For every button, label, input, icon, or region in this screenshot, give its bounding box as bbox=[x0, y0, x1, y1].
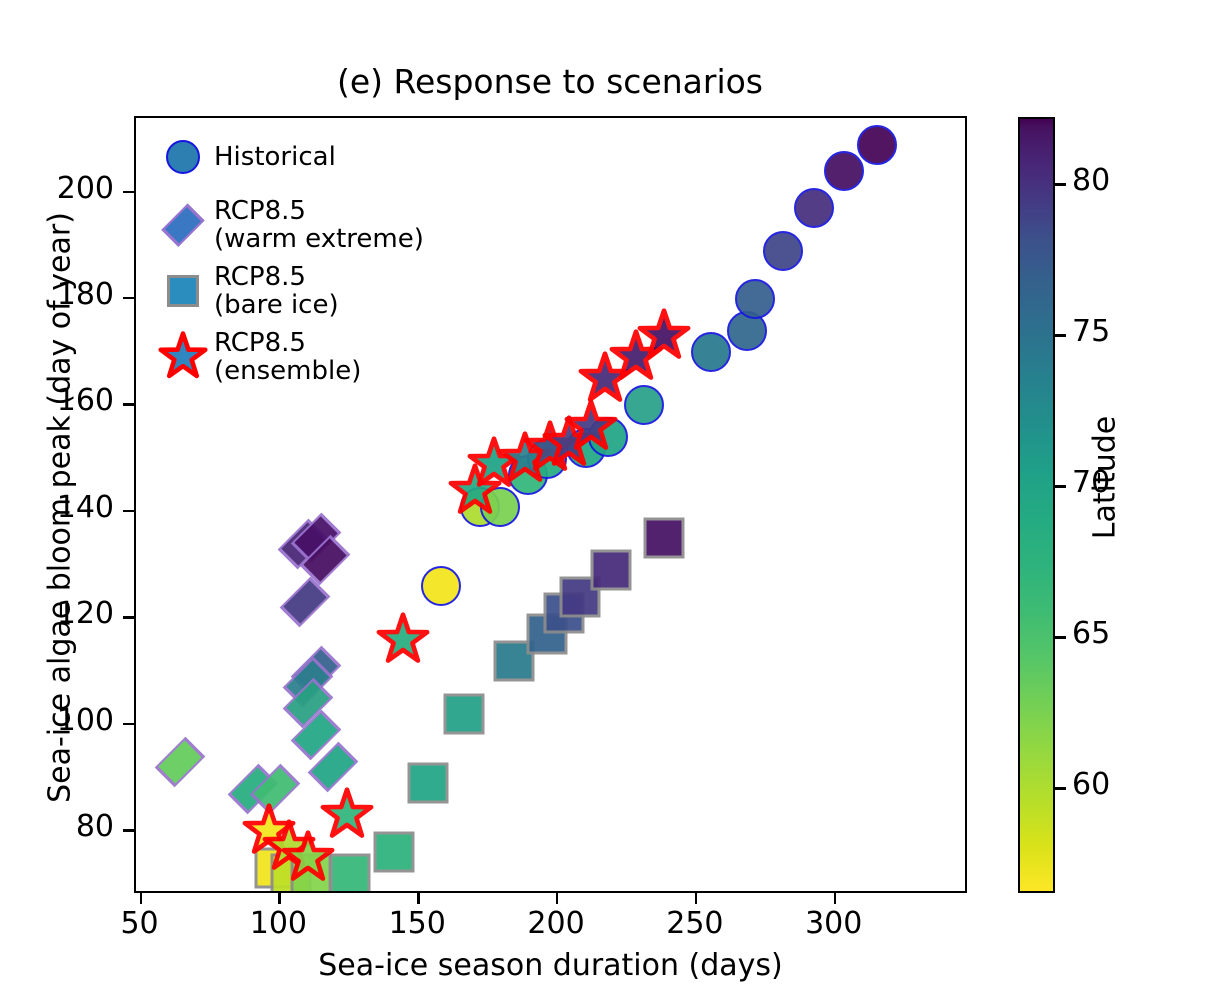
data-point-circle bbox=[857, 125, 897, 165]
x-tick bbox=[695, 893, 697, 904]
y-tick bbox=[123, 510, 134, 512]
colorbar-tick-label: 80 bbox=[1072, 163, 1110, 198]
colorbar-tick bbox=[1055, 485, 1066, 487]
x-tick bbox=[834, 893, 836, 904]
figure-root: (e) Response to scenarios 50100150200250… bbox=[0, 0, 1215, 996]
x-axis-label: Sea-ice season duration (days) bbox=[134, 948, 967, 983]
legend: HistoricalRCP8.5 (warm extreme)RCP8.5 (b… bbox=[152, 126, 482, 392]
data-point-star bbox=[155, 329, 211, 385]
colorbar-tick bbox=[1055, 636, 1066, 638]
x-tick-label: 200 bbox=[496, 906, 616, 941]
data-point-square bbox=[167, 275, 199, 307]
legend-label: Historical bbox=[214, 143, 336, 171]
legend-item-1[interactable]: RCP8.5 (warm extreme) bbox=[152, 194, 482, 256]
x-tick bbox=[140, 893, 142, 904]
colorbar-tick bbox=[1055, 787, 1066, 789]
legend-marker-circle bbox=[152, 126, 214, 188]
y-tick bbox=[123, 297, 134, 299]
data-point-circle bbox=[824, 151, 864, 191]
x-tick bbox=[278, 893, 280, 904]
x-tick-label: 50 bbox=[80, 906, 200, 941]
legend-marker-diamond bbox=[152, 194, 214, 256]
legend-item-0[interactable]: Historical bbox=[152, 126, 482, 188]
legend-label: RCP8.5 (bare ice) bbox=[214, 263, 339, 319]
data-point-star bbox=[373, 610, 433, 670]
data-point-square bbox=[407, 763, 448, 804]
data-point-diamond bbox=[155, 737, 205, 787]
y-tick bbox=[123, 616, 134, 618]
data-point-square bbox=[590, 550, 631, 591]
data-point-circle bbox=[691, 332, 731, 372]
colorbar-title: Latitude bbox=[1088, 328, 1123, 628]
legend-label: RCP8.5 (warm extreme) bbox=[214, 197, 424, 253]
x-tick-label: 150 bbox=[357, 906, 477, 941]
y-axis-label: Sea-ice algae bloom peak (day of year) bbox=[43, 118, 78, 898]
colorbar-tick bbox=[1055, 334, 1066, 336]
data-point-circle bbox=[166, 140, 200, 174]
legend-label: RCP8.5 (ensemble) bbox=[214, 329, 361, 385]
legend-item-3[interactable]: RCP8.5 (ensemble) bbox=[152, 326, 482, 388]
data-point-star bbox=[634, 306, 694, 366]
data-point-square bbox=[374, 832, 415, 873]
legend-marker-square bbox=[152, 260, 214, 322]
y-tick bbox=[123, 191, 134, 193]
data-point-circle bbox=[735, 279, 775, 319]
data-point-star bbox=[317, 785, 377, 845]
x-tick-label: 250 bbox=[635, 906, 755, 941]
colorbar bbox=[1018, 117, 1055, 893]
data-point-circle bbox=[794, 188, 834, 228]
y-tick bbox=[123, 829, 134, 831]
data-point-diamond bbox=[280, 577, 330, 627]
legend-item-2[interactable]: RCP8.5 (bare ice) bbox=[152, 260, 482, 322]
x-tick-label: 100 bbox=[218, 906, 338, 941]
colorbar-tick bbox=[1055, 183, 1066, 185]
chart-title: (e) Response to scenarios bbox=[0, 62, 1100, 101]
y-tick bbox=[123, 403, 134, 405]
x-tick-label: 300 bbox=[774, 906, 894, 941]
data-point-square bbox=[443, 694, 484, 735]
data-point-circle bbox=[421, 566, 461, 606]
x-tick bbox=[417, 893, 419, 904]
y-tick bbox=[123, 723, 134, 725]
colorbar-tick-label: 60 bbox=[1072, 767, 1110, 802]
data-point-circle bbox=[763, 231, 803, 271]
data-point-diamond bbox=[162, 204, 205, 247]
x-tick bbox=[556, 893, 558, 904]
legend-marker-star bbox=[152, 326, 214, 388]
data-point-square bbox=[643, 518, 684, 559]
